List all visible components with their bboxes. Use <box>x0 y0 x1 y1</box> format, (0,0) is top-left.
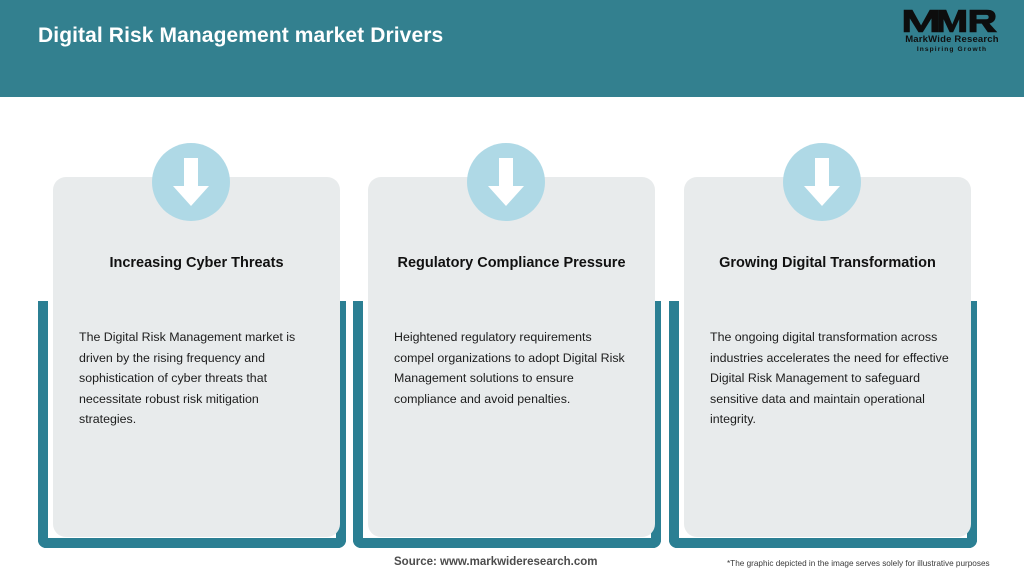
drivers-cards-region: Increasing Cyber Threats The Digital Ris… <box>0 97 1024 552</box>
mwr-logo-icon <box>902 8 1003 34</box>
page-title: Digital Risk Management market Drivers <box>38 24 443 48</box>
card-content: Growing Digital Transformation The ongoi… <box>684 177 971 537</box>
brand-logo: MarkWide Research Inspiring Growth <box>896 8 1008 62</box>
header-band <box>0 0 1024 97</box>
driver-card-3[interactable]: Growing Digital Transformation The ongoi… <box>669 97 977 552</box>
logo-tagline: Inspiring Growth <box>917 45 987 54</box>
card-title: Growing Digital Transformation <box>698 252 957 274</box>
arrow-down-glyph <box>484 156 528 208</box>
slide-canvas: Digital Risk Management market Drivers M… <box>0 0 1024 576</box>
card-title: Regulatory Compliance Pressure <box>382 252 641 274</box>
arrow-down-icon <box>783 143 861 221</box>
card-body-text: The ongoing digital transformation acros… <box>710 327 950 430</box>
logo-company-name: MarkWide Research <box>905 34 999 45</box>
arrow-down-glyph <box>169 156 213 208</box>
arrow-down-icon <box>152 143 230 221</box>
card-body-text: The Digital Risk Management market is dr… <box>79 327 319 430</box>
arrow-down-glyph <box>800 156 844 208</box>
card-body-text: Heightened regulatory requirements compe… <box>394 327 634 409</box>
driver-card-2[interactable]: Regulatory Compliance Pressure Heightene… <box>353 97 661 552</box>
footer-source: Source: www.markwideresearch.com <box>394 556 597 568</box>
card-content: Regulatory Compliance Pressure Heightene… <box>368 177 655 537</box>
card-content: Increasing Cyber Threats The Digital Ris… <box>53 177 340 537</box>
arrow-down-icon <box>467 143 545 221</box>
footer-disclaimer: *The graphic depicted in the image serve… <box>727 559 990 568</box>
driver-card-1[interactable]: Increasing Cyber Threats The Digital Ris… <box>38 97 346 552</box>
card-title: Increasing Cyber Threats <box>67 252 326 274</box>
